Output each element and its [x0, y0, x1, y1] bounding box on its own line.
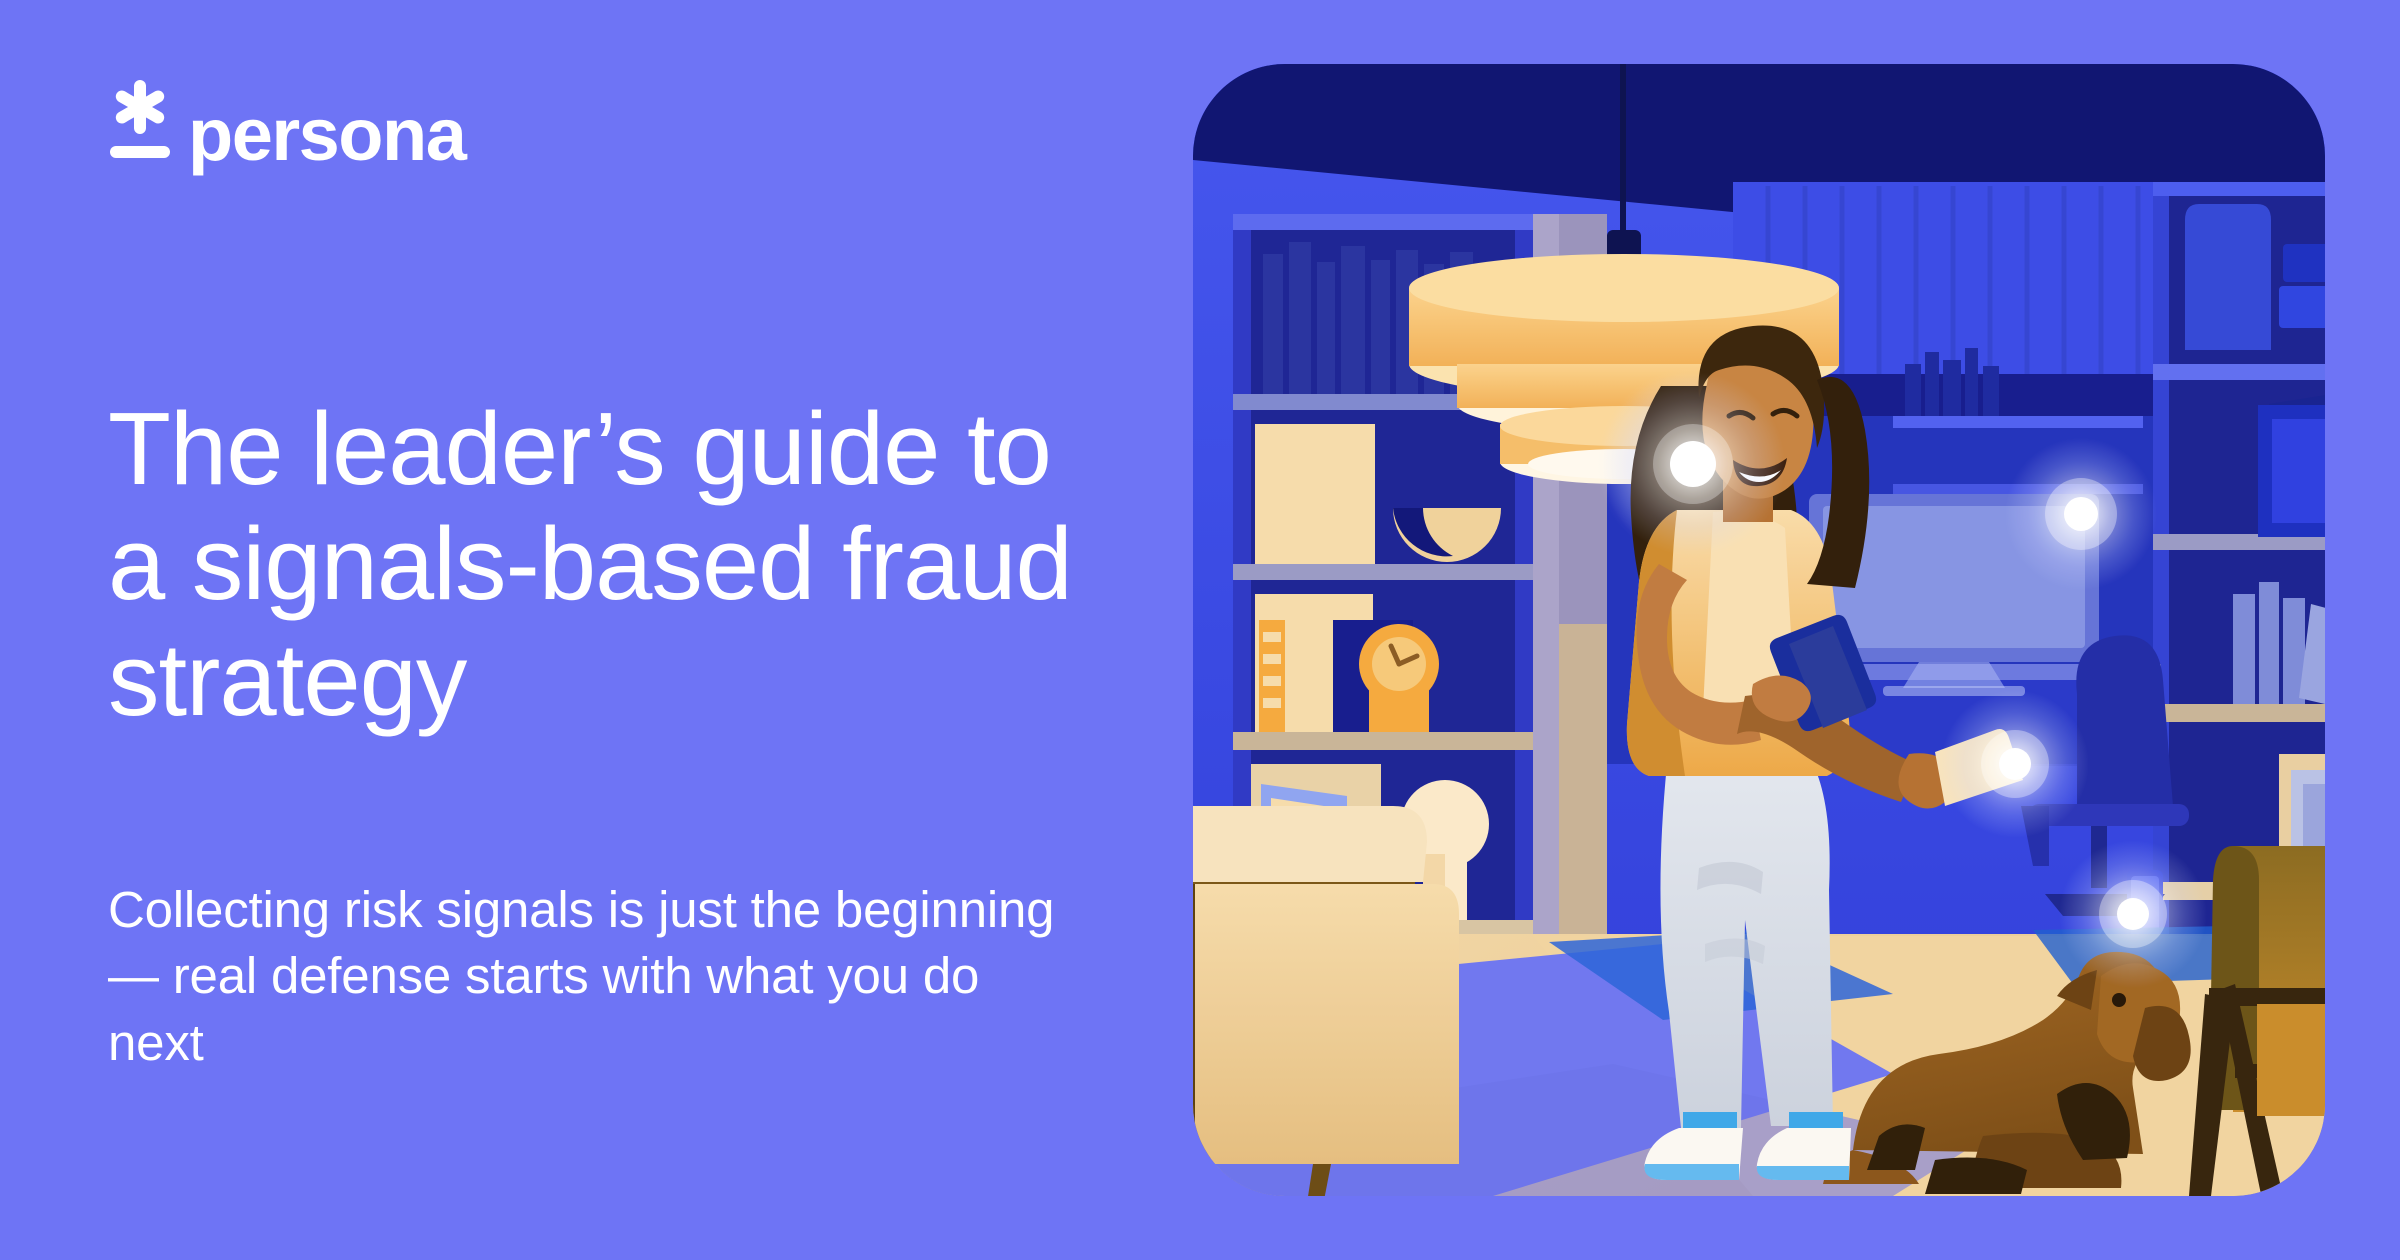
hero-illustration: [1193, 64, 2325, 1196]
persona-logo[interactable]: persona: [108, 78, 465, 164]
hero-text-column: persona The leader’s guide to a signals-…: [108, 0, 1138, 1260]
page-subtitle: Collecting risk signals is just the begi…: [108, 877, 1068, 1076]
page-title: The leader’s guide to a signals-based fr…: [108, 391, 1118, 737]
poster-canvas: persona The leader’s guide to a signals-…: [0, 0, 2400, 1260]
asterisk-underline-icon: [108, 78, 172, 164]
home-office-scene-illustration: [1193, 64, 2325, 1196]
logo-wordmark: persona: [188, 106, 465, 164]
